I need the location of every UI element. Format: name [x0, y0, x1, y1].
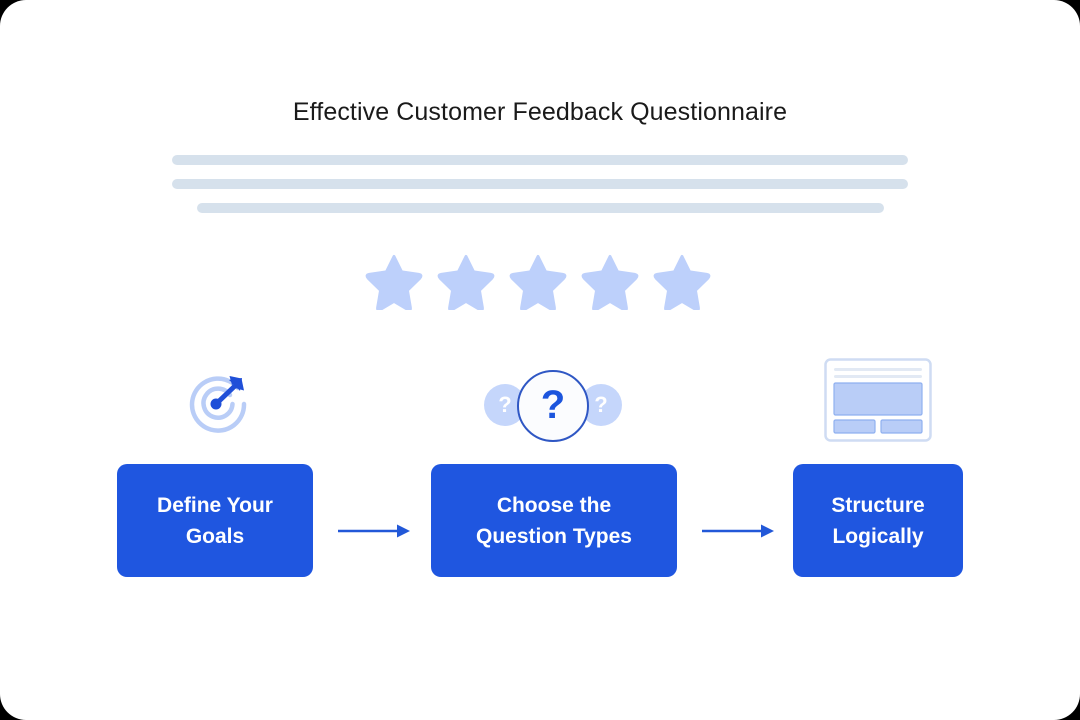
star-rating	[365, 252, 705, 314]
star-icon	[437, 252, 495, 310]
layout-wireframe-icon	[824, 358, 932, 442]
star-icon	[653, 252, 711, 310]
step-box-define-your-goals[interactable]: Define Your Goals	[117, 464, 313, 577]
infographic-card: Effective Customer Feedback Questionnair…	[0, 0, 1080, 720]
step-box-label-line2: Question Types	[476, 525, 632, 548]
star-icon	[581, 252, 639, 310]
star-icon	[365, 252, 423, 310]
step-box-label: Choose the Question Types	[476, 490, 632, 552]
arrow-right-icon	[702, 521, 774, 541]
step-box-label-line2: Goals	[186, 525, 244, 548]
arrow-right-icon	[338, 521, 410, 541]
target-icon	[182, 370, 250, 438]
page-title: Effective Customer Feedback Questionnair…	[0, 98, 1080, 127]
text-placeholder-line-2	[172, 179, 908, 189]
step-box-label-line1: Choose the	[497, 494, 611, 517]
step-box-choose-the-question-types[interactable]: Choose the Question Types	[431, 464, 677, 577]
text-placeholder-line-1	[172, 155, 908, 165]
step-box-label-line1: Define Your	[157, 494, 273, 517]
step-box-label: Define Your Goals	[157, 490, 273, 552]
star-icon	[509, 252, 567, 310]
text-placeholder-line-3	[197, 203, 884, 213]
step-box-label-line2: Logically	[832, 525, 923, 548]
question-mark-main: ?	[517, 370, 589, 442]
step-box-structure-logically[interactable]: Structure Logically	[793, 464, 963, 577]
step-box-label: Structure Logically	[831, 490, 924, 552]
step-box-label-line1: Structure	[831, 494, 924, 517]
question-marks-icon: ? ? ?	[484, 370, 622, 440]
